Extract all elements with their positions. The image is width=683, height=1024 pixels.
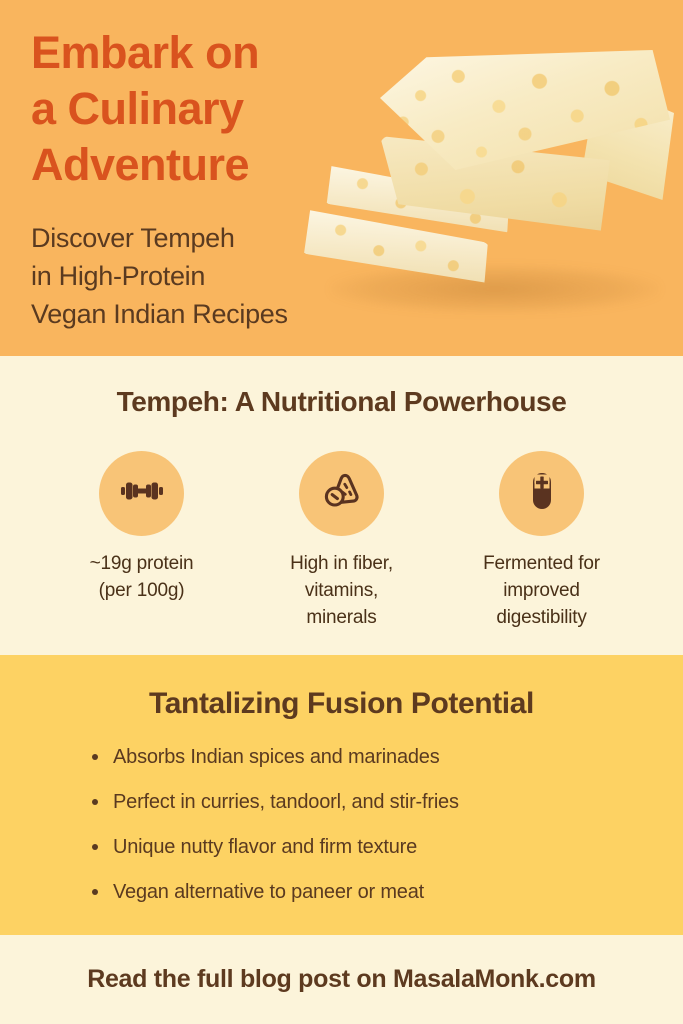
- protein-label-line-1: ~19g protein: [90, 553, 194, 574]
- icon-badge-fiber: [299, 451, 384, 536]
- nutrition-feature-protein: ~19g protein (per 100g): [42, 451, 242, 604]
- footer-cta-link[interactable]: Read the full blog post on MasalaMonk.co…: [87, 965, 596, 994]
- icon-badge-protein: [99, 451, 184, 536]
- list-item: Vegan alternative to paneer or meat: [92, 878, 683, 906]
- fusion-section: Tantalizing Fusion Potential Absorbs Ind…: [0, 655, 683, 935]
- fiber-label-line-1: High in fiber,: [290, 553, 393, 574]
- list-item-label: Absorbs Indian spices and marinades: [113, 746, 440, 768]
- fermented-label-line-2: improved: [503, 580, 580, 601]
- nutrition-feature-fiber-label: High in fiber, vitamins, minerals: [262, 550, 422, 631]
- list-item: Perfect in curries, tandoorl, and stir-f…: [92, 788, 683, 816]
- dumbbell-icon: [118, 467, 166, 520]
- bullet-dot-icon: [92, 799, 98, 805]
- grains-icon: [318, 467, 366, 520]
- nutrition-feature-fermented: Fermented for improved digestibility: [442, 451, 642, 631]
- nutrition-heading: Tempeh: A Nutritional Powerhouse: [0, 356, 683, 418]
- page-title-line-2: a Culinary: [31, 83, 244, 134]
- bullet-dot-icon: [92, 844, 98, 850]
- fermented-label-line-3: digestibility: [496, 607, 586, 628]
- page-subtitle-line-2: in High-Protein: [31, 261, 205, 291]
- list-item-label: Perfect in curries, tandoorl, and stir-f…: [113, 791, 459, 813]
- tempeh-block: [380, 50, 670, 250]
- nutrition-section: Tempeh: A Nutritional Powerhouse: [0, 356, 683, 655]
- footer-section: Read the full blog post on MasalaMonk.co…: [0, 935, 683, 1024]
- nutrition-feature-fermented-label: Fermented for improved digestibility: [462, 550, 622, 631]
- hero-section: Embark on a Culinary Adventure Discover …: [0, 0, 683, 356]
- list-item: Unique nutty flavor and firm texture: [92, 833, 683, 861]
- fermented-label-line-1: Fermented for: [483, 553, 600, 574]
- page-title-line-1: Embark on: [31, 27, 259, 78]
- protein-label-line-2: (per 100g): [99, 580, 185, 601]
- fusion-bullet-list: Absorbs Indian spices and marinades Perf…: [0, 743, 683, 906]
- nutrition-feature-protein-label: ~19g protein (per 100g): [62, 550, 222, 604]
- nutrition-feature-row: ~19g protein (per 100g): [0, 451, 683, 631]
- page-title-line-3: Adventure: [31, 139, 249, 190]
- infographic-root: Embark on a Culinary Adventure Discover …: [0, 0, 683, 1024]
- page-title: Embark on a Culinary Adventure: [31, 25, 371, 193]
- fusion-heading: Tantalizing Fusion Potential: [0, 655, 683, 721]
- page-subtitle-line-1: Discover Tempeh: [31, 223, 235, 253]
- list-item: Absorbs Indian spices and marinades: [92, 743, 683, 771]
- page-subtitle: Discover Tempeh in High-Protein Vegan In…: [31, 219, 391, 333]
- nutrition-feature-fiber: High in fiber, vitamins, minerals: [242, 451, 442, 631]
- icon-badge-fermented: [499, 451, 584, 536]
- capsule-plus-icon: [518, 467, 566, 520]
- fiber-label-line-3: minerals: [306, 607, 376, 628]
- list-item-label: Vegan alternative to paneer or meat: [113, 881, 424, 903]
- fiber-label-line-2: vitamins,: [305, 580, 378, 601]
- page-subtitle-line-3: Vegan Indian Recipes: [31, 299, 288, 329]
- list-item-label: Unique nutty flavor and firm texture: [113, 836, 417, 858]
- bullet-dot-icon: [92, 754, 98, 760]
- bullet-dot-icon: [92, 889, 98, 895]
